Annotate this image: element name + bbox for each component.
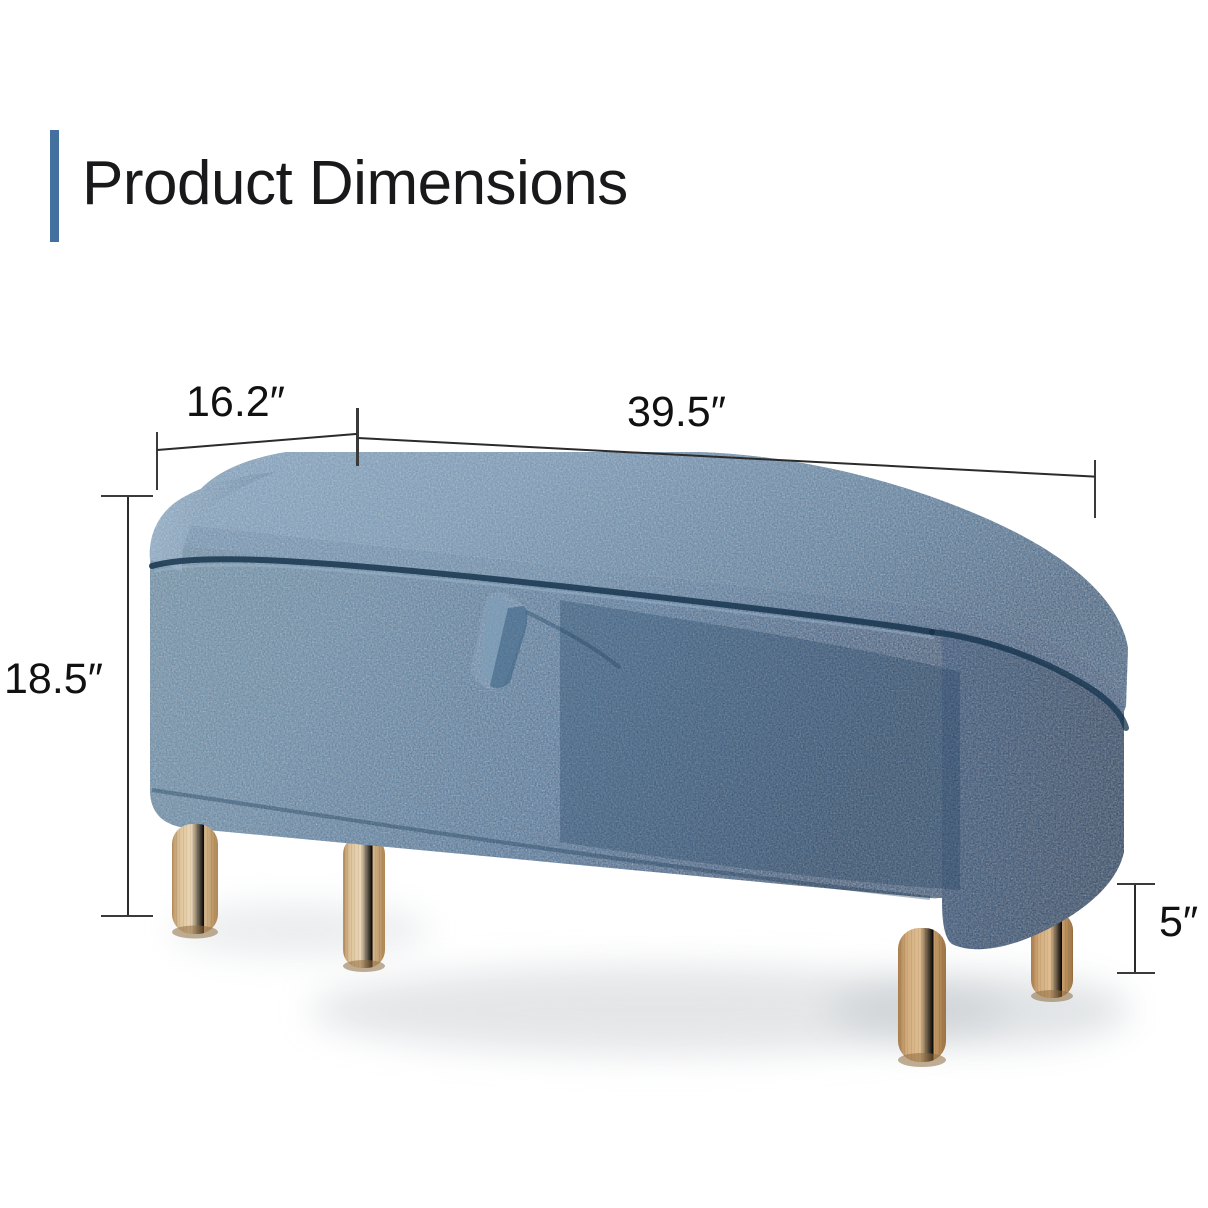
- product-dimensions-infographic: Product Dimensions: [0, 0, 1208, 1208]
- dimension-label-depth: 16.2″: [186, 378, 285, 427]
- leg-height-cap-top: [1117, 883, 1155, 885]
- leg-height-cap-bottom: [1117, 972, 1155, 974]
- leg-front-right: [898, 928, 946, 1067]
- dimension-line-height: [127, 495, 129, 916]
- product-illustration: [0, 0, 1208, 1208]
- width-extension-right: [1094, 460, 1096, 518]
- leg-rear-left: [343, 836, 385, 972]
- dimension-label-height: 18.5″: [4, 655, 103, 704]
- height-cap-bottom: [101, 915, 153, 917]
- dimension-label-width: 39.5″: [627, 388, 726, 437]
- dimension-label-leg-height: 5″: [1159, 898, 1198, 947]
- leg-front-left: [172, 824, 218, 939]
- height-cap-top: [101, 495, 153, 497]
- dimension-line-leg-height: [1134, 883, 1136, 974]
- depth-extension-left: [156, 432, 158, 490]
